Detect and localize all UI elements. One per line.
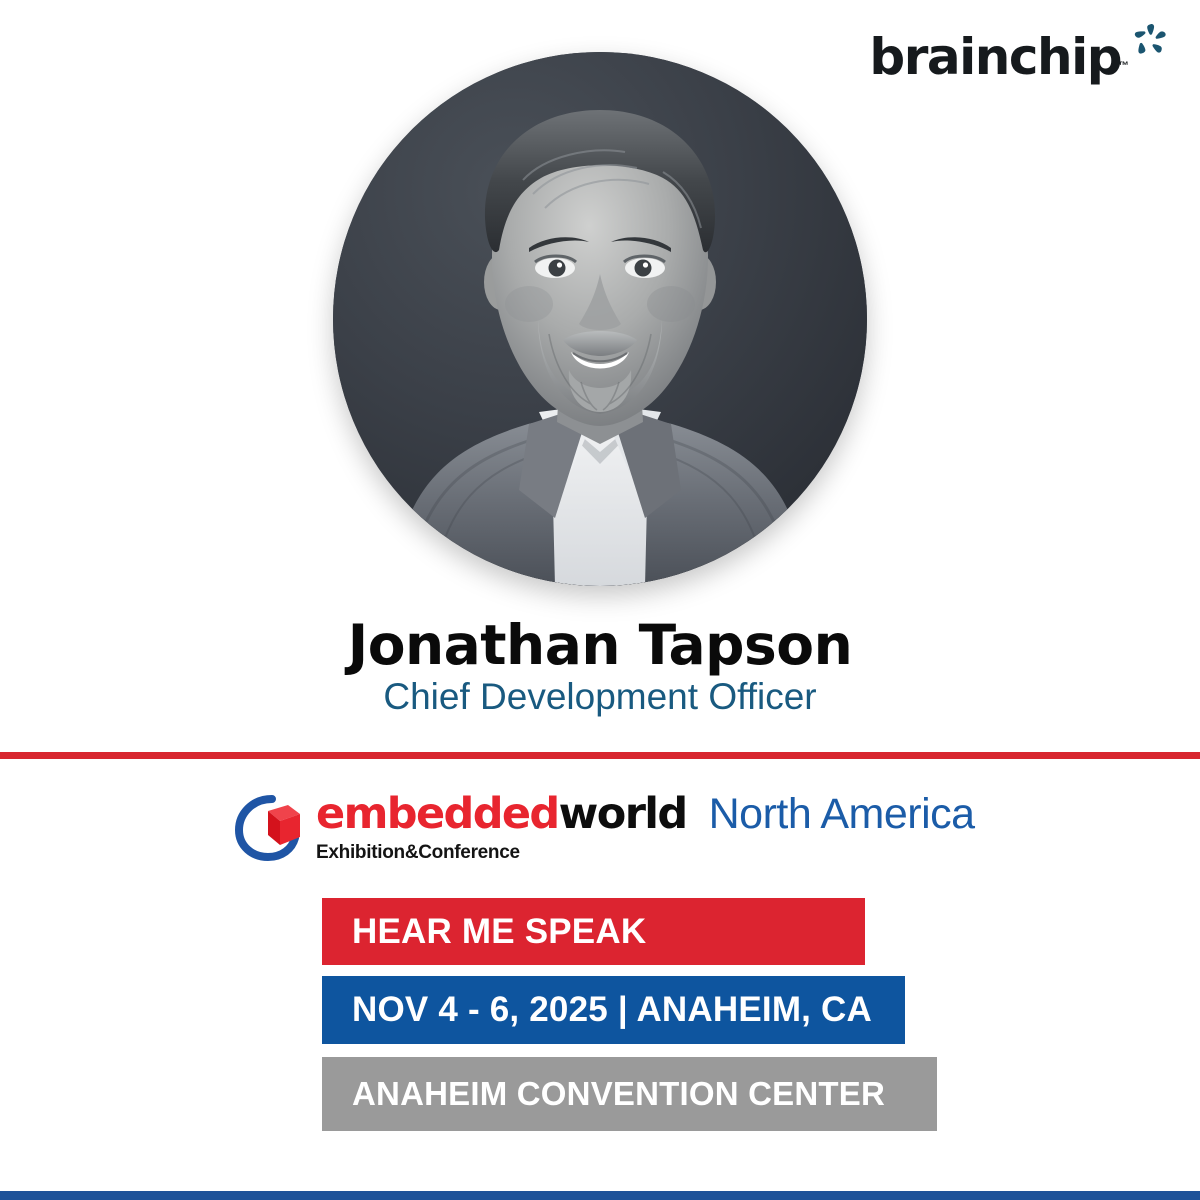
brainchip-logo: brainchip ™ [869, 18, 1176, 84]
event-panel: embedded world North America Exhibition&… [0, 759, 1200, 1191]
event-date-location-banner: NOV 4 - 6, 2025 | ANAHEIM, CA [322, 976, 905, 1044]
embedded-world-logo: embedded world North America Exhibition&… [232, 789, 975, 864]
brainchip-asterisk-icon [1128, 20, 1172, 64]
portrait-illustration [333, 52, 867, 586]
embedded-world-title-line: embedded world North America [316, 793, 975, 836]
speaker-title: Chief Development Officer [0, 678, 1200, 715]
exhibition-conference-subtitle: Exhibition&Conference [316, 842, 975, 864]
event-venue-banner: ANAHEIM CONVENTION CENTER [322, 1057, 937, 1131]
world-word: world [559, 793, 687, 836]
speaker-name: Jonathan Tapson [0, 618, 1200, 673]
footer-accent-bar [0, 1191, 1200, 1200]
hear-me-speak-banner: HEAR ME SPEAK [322, 898, 865, 965]
embedded-world-cube-icon [232, 789, 306, 863]
region-label: North America [709, 793, 975, 836]
speaker-photo [333, 52, 867, 586]
embedded-world-text: embedded world North America Exhibition&… [316, 789, 975, 864]
section-divider [0, 752, 1200, 759]
speaker-panel: brainchip ™ [0, 0, 1200, 754]
brainchip-wordmark: brainchip [869, 32, 1121, 82]
embedded-word: embedded [316, 793, 559, 836]
